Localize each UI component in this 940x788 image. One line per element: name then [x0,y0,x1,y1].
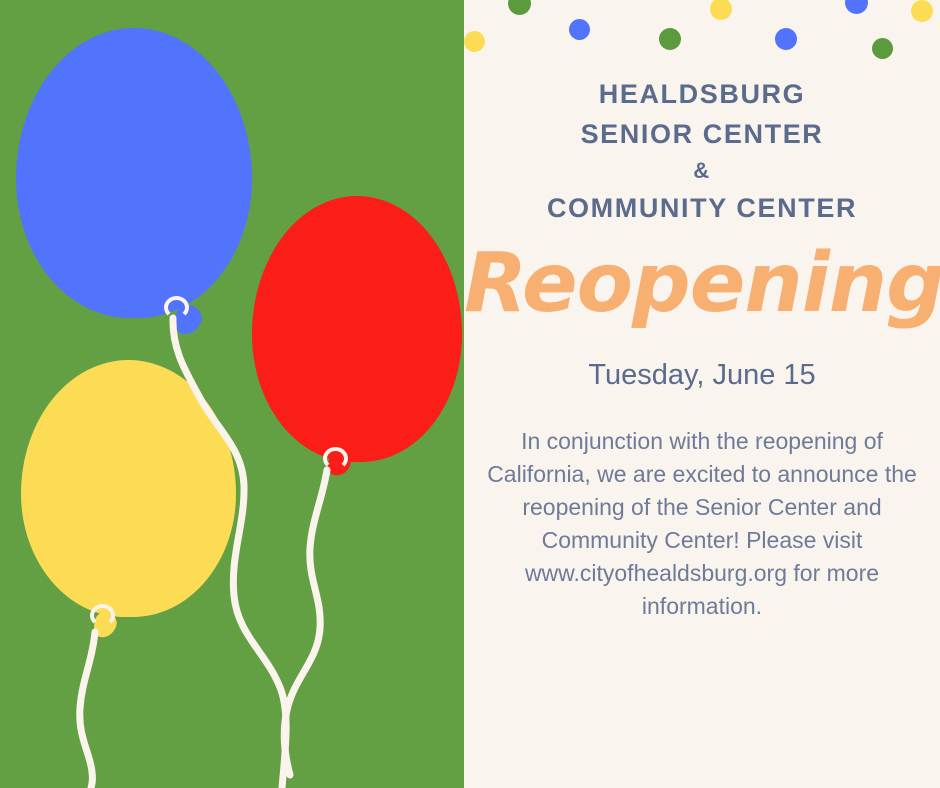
balloon-strings-icon [0,0,464,788]
event-date: Tuesday, June 15 [464,355,940,395]
balloon-art-panel [0,0,464,788]
confetti-dot [464,31,485,52]
confetti-dot [508,0,531,15]
body-copy: In conjunction with the reopening of Cal… [484,425,920,623]
page-title: HEALDSBURG SENIOR CENTER & COMMUNITY CEN… [464,74,940,228]
confetti-dot [569,19,590,40]
confetti-dot [775,28,797,50]
confetti-dot [911,0,933,22]
confetti-dot [659,28,681,50]
flyer-poster: HEALDSBURG SENIOR CENTER & COMMUNITY CEN… [0,0,940,788]
reopening-wordmark: Reopening [464,236,940,332]
content-panel: HEALDSBURG SENIOR CENTER & COMMUNITY CEN… [464,0,940,788]
headline-ampersand: & [464,154,940,188]
confetti-dot [872,38,893,59]
headline-line-2: SENIOR CENTER [464,114,940,154]
confetti-dot [845,0,868,14]
headline-line-1: HEALDSBURG [464,74,940,114]
headline-line-3: COMMUNITY CENTER [464,188,940,228]
confetti-dot [710,0,732,20]
